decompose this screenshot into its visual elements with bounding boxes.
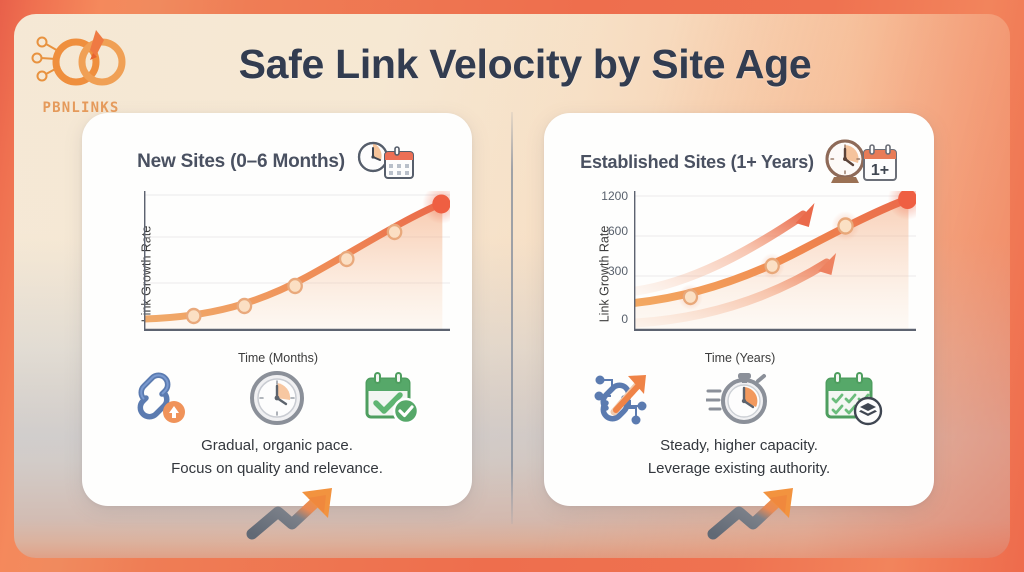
stopwatch-speed-icon [702,365,776,431]
caption-line-1: Steady, higher capacity. [564,435,914,458]
icon-row-new-sites [106,365,448,431]
brand-name: PBNLINKS [26,100,136,116]
brand-logo: PBNLINKS [26,26,136,114]
mantel-clock-icon: 1+ [824,138,898,186]
chart-right-plot-area: 1200 600 300 0 [634,191,916,331]
chart-new-sites: Link Growth Rate [96,185,460,363]
chart-right-ytick-0: 0 [621,312,628,326]
clock-icon [240,365,314,431]
card-title-established-sites: Established Sites (1+ Years) [580,152,814,173]
network-link-arrow-icon [588,365,662,431]
chart-right-x-axis-label: Time (Years) [558,351,922,365]
chart-established-sites: Link Growth Rate 1200 600 300 0 [558,185,922,363]
chart-left-plot-area [144,191,450,331]
calendar-1plus-badge: 1+ [871,162,889,179]
wall-clock-icon [355,140,417,184]
card-new-sites[interactable]: New Sites (0–6 Months) Link Growth Rate [82,113,472,506]
caption-line-2: Focus on quality and relevance. [102,458,452,481]
chain-link-up-arrow-icon [126,365,200,431]
chart-right-ytick-1200: 1200 [601,189,628,203]
page-title: Safe Link Velocity by Site Age [160,33,890,95]
chart-right-svg [634,191,916,331]
card-header-new-sites: New Sites (0–6 Months) [82,135,472,189]
calendar-checks-layers-icon [816,365,890,431]
chart-right-ytick-300: 300 [608,264,628,278]
chart-right-ytick-600: 600 [608,224,628,238]
trending-up-arrow-icon-left [242,486,346,546]
calendar-check-icon [354,365,428,431]
caption-established-sites: Steady, higher capacity. Leverage existi… [564,435,914,480]
interlocking-rings-rocket-logo [26,26,136,100]
caption-new-sites: Gradual, organic pace. Focus on quality … [102,435,452,480]
infographic-canvas: PBNLINKS Safe Link Velocity by Site Age … [0,0,1024,572]
card-title-new-sites: New Sites (0–6 Months) [137,151,345,173]
vertical-divider [511,112,513,524]
caption-line-1: Gradual, organic pace. [102,435,452,458]
card-header-established-sites: Established Sites (1+ Years) 1+ [544,135,934,189]
chart-left-x-axis-label: Time (Months) [96,351,460,365]
card-established-sites[interactable]: Established Sites (1+ Years) 1+ [544,113,934,506]
icon-row-established-sites [568,365,910,431]
caption-line-2: Leverage existing authority. [564,458,914,481]
trending-up-arrow-icon-right [703,486,807,546]
chart-left-svg [144,191,450,331]
